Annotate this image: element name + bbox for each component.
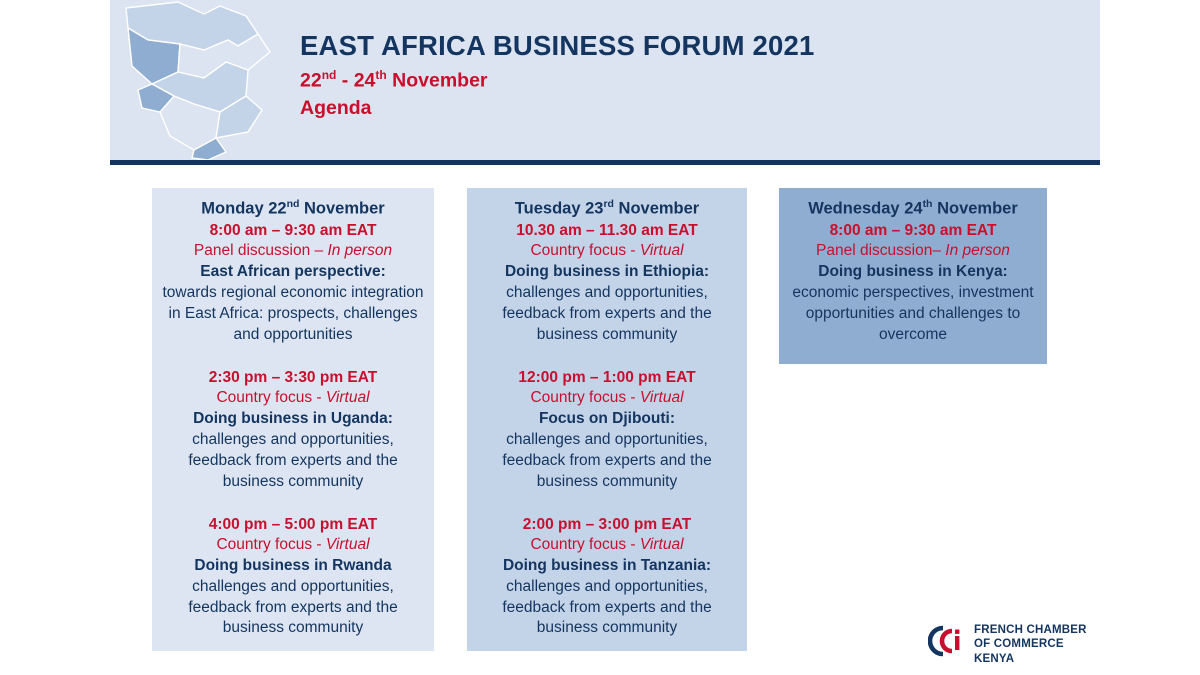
session-time: 4:00 pm – 5:00 pm EAT: [162, 515, 424, 535]
east-africa-map-icon: [108, 0, 298, 160]
logo-line-2: OF COMMERCE: [974, 637, 1087, 651]
session-time: 12:00 pm – 1:00 pm EAT: [477, 368, 737, 388]
day-heading: Tuesday 23rd November: [477, 198, 737, 219]
logo-text: FRENCH CHAMBER OF COMMERCE KENYA: [974, 623, 1087, 666]
agenda-column-tuesday: Tuesday 23rd November 10.30 am – 11.30 a…: [467, 188, 747, 651]
session-mode-emphasis: Virtual: [640, 536, 684, 553]
day-month: November: [614, 200, 699, 218]
session-time: 8:00 am – 9:30 am EAT: [789, 221, 1037, 241]
title-block: EAST AFRICA BUSINESS FORUM 2021 22nd - 2…: [300, 30, 815, 120]
session-topic: Doing business in Rwanda: [162, 556, 424, 577]
session-mode-prefix: Country focus -: [530, 389, 639, 406]
session-mode-emphasis: In person: [327, 242, 392, 259]
session-detail: challenges and opportunities, feedback f…: [477, 430, 737, 493]
session-item: 12:00 pm – 1:00 pm EAT Country focus - V…: [477, 368, 737, 493]
session-topic: Doing business in Kenya:: [789, 262, 1037, 283]
session-item: 4:00 pm – 5:00 pm EAT Country focus - Vi…: [162, 515, 424, 640]
session-topic: Doing business in Tanzania:: [477, 556, 737, 577]
session-mode-emphasis: Virtual: [640, 389, 684, 406]
session-mode: Country focus - Virtual: [477, 388, 737, 409]
session-detail: challenges and opportunities, feedback f…: [162, 430, 424, 493]
logo-line-1: FRENCH CHAMBER: [974, 623, 1087, 637]
session-mode-prefix: Panel discussion –: [194, 242, 328, 259]
day-label: Tuesday 23: [515, 200, 604, 218]
session-time: 2:00 pm – 3:00 pm EAT: [477, 515, 737, 535]
session-mode-emphasis: Virtual: [326, 389, 370, 406]
day-ordinal: th: [923, 198, 933, 210]
date-sup-1: nd: [322, 68, 337, 82]
session-topic: Focus on Djibouti:: [477, 409, 737, 430]
session-topic: Doing business in Ethiopia:: [477, 262, 737, 283]
session-mode: Country focus - Virtual: [477, 241, 737, 262]
agenda-column-wednesday: Wednesday 24th November 8:00 am – 9:30 a…: [779, 188, 1047, 364]
session-mode-prefix: Panel discussion–: [816, 242, 945, 259]
session-item: 10.30 am – 11.30 am EAT Country focus - …: [477, 221, 737, 346]
session-mode-prefix: Country focus -: [216, 389, 325, 406]
session-time: 2:30 pm – 3:30 pm EAT: [162, 368, 424, 388]
day-heading: Monday 22nd November: [162, 198, 424, 219]
session-detail: challenges and opportunities, feedback f…: [162, 577, 424, 640]
session-mode: Country focus - Virtual: [162, 388, 424, 409]
session-item: 8:00 am – 9:30 am EAT Panel discussion –…: [162, 221, 424, 346]
session-item: 2:30 pm – 3:30 pm EAT Country focus - Vi…: [162, 368, 424, 493]
session-detail: challenges and opportunities, feedback f…: [477, 577, 737, 640]
session-mode-prefix: Country focus -: [216, 536, 325, 553]
day-ordinal: nd: [287, 198, 300, 210]
session-mode-emphasis: In person: [945, 242, 1010, 259]
page-title: EAST AFRICA BUSINESS FORUM 2021: [300, 30, 815, 62]
day-label: Monday 22: [201, 200, 286, 218]
session-mode-prefix: Country focus -: [530, 536, 639, 553]
session-topic: Doing business in Uganda:: [162, 409, 424, 430]
session-mode: Country focus - Virtual: [477, 535, 737, 556]
session-mode: Country focus - Virtual: [162, 535, 424, 556]
session-detail: towards regional economic integration in…: [162, 283, 424, 346]
session-mode: Panel discussion– In person: [789, 241, 1037, 262]
day-month: November: [932, 200, 1017, 218]
session-topic: East African perspective:: [162, 262, 424, 283]
session-time: 8:00 am – 9:30 am EAT: [162, 221, 424, 241]
day-ordinal: rd: [603, 198, 614, 210]
event-dates: 22nd - 24th November: [300, 68, 815, 93]
day-label: Wednesday 24: [808, 200, 922, 218]
date-sup-2: th: [375, 68, 386, 82]
session-mode: Panel discussion – In person: [162, 241, 424, 262]
agenda-column-monday: Monday 22nd November 8:00 am – 9:30 am E…: [152, 188, 434, 651]
day-heading: Wednesday 24th November: [789, 198, 1037, 219]
organization-logo: FRENCH CHAMBER OF COMMERCE KENYA: [928, 620, 1088, 662]
session-detail: economic perspectives, investment opport…: [789, 283, 1037, 346]
date-mid: - 24: [336, 69, 375, 91]
session-mode-emphasis: Virtual: [640, 242, 684, 259]
header-divider: [110, 160, 1100, 165]
page-header: EAST AFRICA BUSINESS FORUM 2021 22nd - 2…: [0, 0, 1200, 160]
session-mode-emphasis: Virtual: [326, 536, 370, 553]
day-month: November: [299, 200, 384, 218]
session-item: 8:00 am – 9:30 am EAT Panel discussion– …: [789, 221, 1037, 346]
session-detail: challenges and opportunities, feedback f…: [477, 283, 737, 346]
session-item: 2:00 pm – 3:00 pm EAT Country focus - Vi…: [477, 515, 737, 640]
session-mode-prefix: Country focus -: [530, 242, 639, 259]
session-time: 10.30 am – 11.30 am EAT: [477, 221, 737, 241]
date-main: 22: [300, 69, 322, 91]
agenda-label: Agenda: [300, 97, 815, 120]
logo-line-3: KENYA: [974, 652, 1087, 666]
date-end: November: [387, 69, 488, 91]
cci-monogram-icon: [928, 622, 966, 660]
